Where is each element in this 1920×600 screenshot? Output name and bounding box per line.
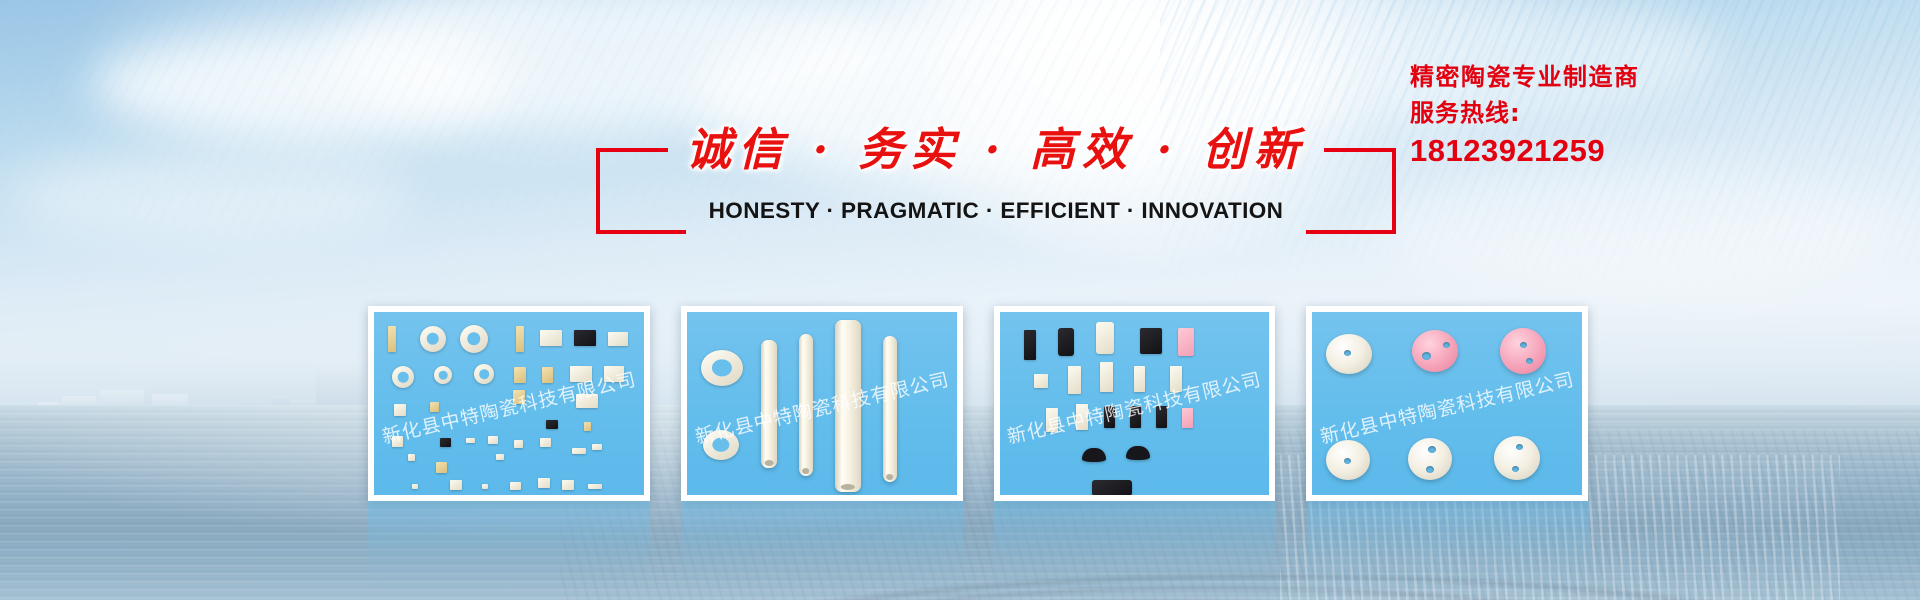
slogan-block: 诚信 · 务实 · 高效 · 创新 HONESTY · PRAGMATIC · … <box>596 120 1396 240</box>
product-card-ceramic-discs-and-nozzles[interactable]: 新化县中特陶瓷科技有限公司 <box>1306 306 1588 501</box>
watermark: 新化县中特陶瓷科技有限公司 <box>1317 365 1576 450</box>
product-card-ceramic-tubes-and-rings[interactable]: 新化县中特陶瓷科技有限公司 <box>681 306 963 501</box>
card-reflection <box>994 501 1276 593</box>
bracket-bottom-left <box>596 230 686 234</box>
slogan-english: HONESTY · PRAGMATIC · EFFICIENT · INNOVA… <box>596 197 1396 225</box>
card-reflection <box>681 501 963 593</box>
product-card-structural-ceramic-parts[interactable]: 新化县中特陶瓷科技有限公司 <box>994 306 1276 501</box>
contact-block: 精密陶瓷专业制造商 服务热线: 18123921259 <box>1410 60 1880 170</box>
bracket-bottom-right <box>1306 230 1396 234</box>
card-reflection <box>1307 501 1589 593</box>
product-card-row: 新化县中特陶瓷科技有限公司 新化县中特陶瓷科技有限公司 <box>368 306 1588 501</box>
company-tagline: 精密陶瓷专业制造商 <box>1410 60 1880 94</box>
product-photo-4: 新化县中特陶瓷科技有限公司 <box>1312 312 1582 495</box>
product-photo-3: 新化县中特陶瓷科技有限公司 <box>1000 312 1270 495</box>
product-photo-1: 新化县中特陶瓷科技有限公司 <box>374 312 644 495</box>
watermark: 新化县中特陶瓷科技有限公司 <box>379 365 638 450</box>
slogan-chinese: 诚信 · 务实 · 高效 · 创新 <box>596 120 1396 180</box>
hotline-phone[interactable]: 18123921259 <box>1410 132 1880 170</box>
hero-banner: 诚信 · 务实 · 高效 · 创新 HONESTY · PRAGMATIC · … <box>0 0 1920 600</box>
product-photo-2: 新化县中特陶瓷科技有限公司 <box>687 312 957 495</box>
hotline-label: 服务热线: <box>1410 94 1880 132</box>
product-card-smd-ceramic-components[interactable]: 新化县中特陶瓷科技有限公司 <box>368 306 650 501</box>
card-reflection <box>368 501 650 593</box>
